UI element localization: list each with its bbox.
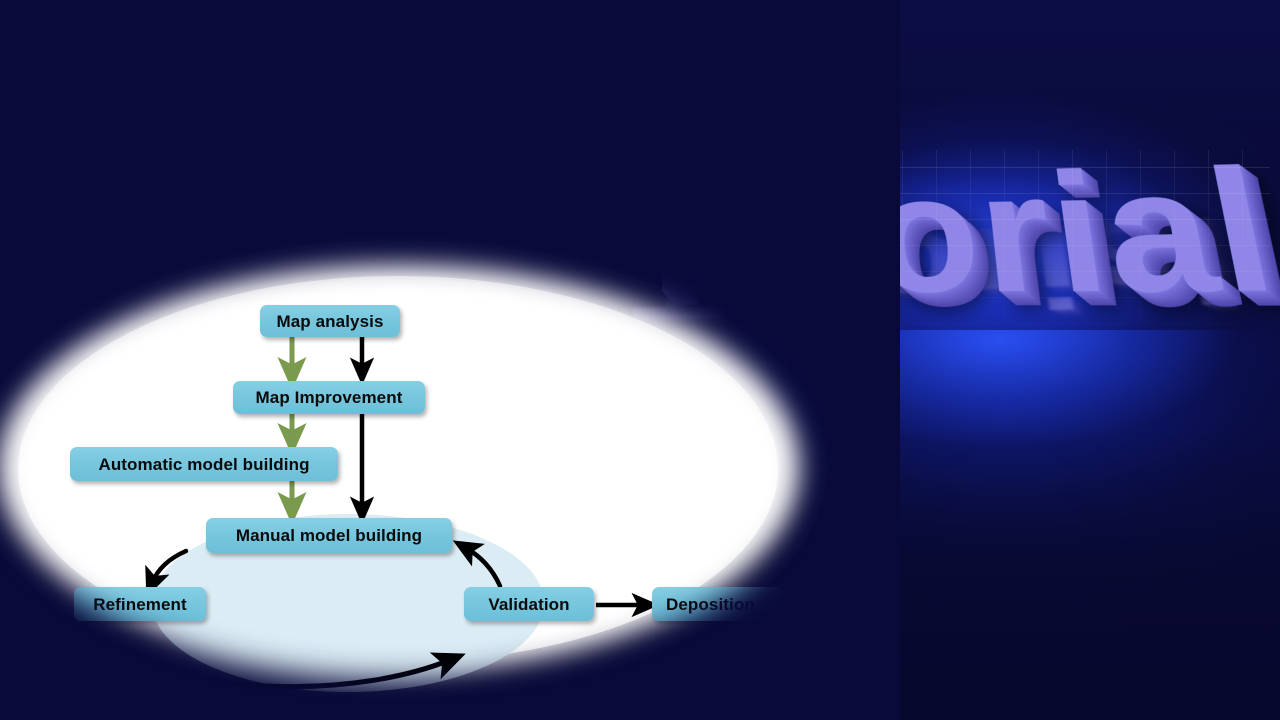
workflow-diagram: Map analysis Map Improvement Automatic m… — [0, 268, 830, 720]
node-map-analysis[interactable]: Map analysis — [260, 305, 400, 337]
node-validation[interactable]: Validation — [464, 587, 594, 621]
node-automatic-model-building[interactable]: Automatic model building — [70, 447, 338, 481]
node-deposition[interactable]: Deposition — [652, 587, 784, 621]
page-title: Cryo-EM tools — [96, 34, 788, 143]
node-manual-model-building[interactable]: Manual model building — [206, 518, 452, 553]
slide-canvas: Tutorial Tutorial Cryo-EM tools — [0, 0, 1280, 720]
node-map-improvement[interactable]: Map Improvement — [233, 381, 425, 414]
node-refinement[interactable]: Refinement — [74, 587, 206, 621]
